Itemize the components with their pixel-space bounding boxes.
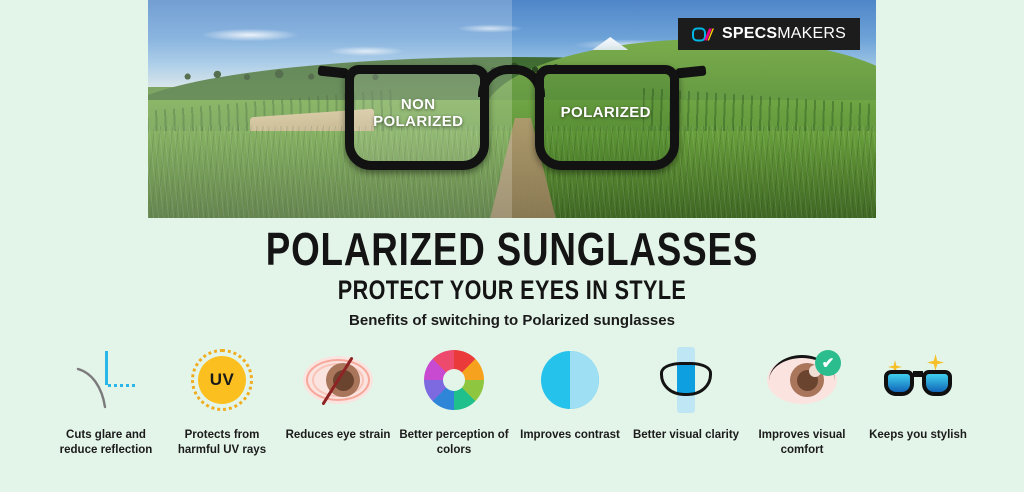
page-subtitle: PROTECT YOUR EYES IN STYLE [102,277,921,304]
glare-reflected-ray [108,384,136,387]
benefit-label: Keeps you stylish [869,428,967,443]
benefit-label: Improves visual comfort [746,428,858,458]
benefit-label: Reduces eye strain [286,428,391,443]
glare-incoming-ray [105,351,108,385]
benefit-item-colors: Better perception of colors [398,344,510,458]
lens-clarity-icon [650,344,722,416]
hero-label-non-polarized-line2: POLARIZED [355,114,482,131]
contrast-light-half [570,351,599,409]
sunglasses-lens-left [884,370,914,396]
clarity-lens-outline [660,362,712,396]
brand-logo-text: SPECSMAKERS [722,25,846,43]
brand-name-secondary: MAKERS [777,25,846,42]
hero-label-non-polarized: NON POLARIZED [355,97,482,131]
specsmakers-lens-icon [692,26,714,43]
poster-root: NON POLARIZED POLARIZED SPECSMAKERS POLA… [0,0,1024,492]
benefits-lead-text: Benefits of switching to Polarized sungl… [0,312,1024,329]
benefits-row: Cuts glare and reduce reflection UV Prot… [50,344,974,458]
contrast-circle-icon [534,344,606,416]
benefit-label: Protects from harmful UV rays [166,428,278,458]
eye-check-icon: ✔ [766,344,838,416]
hero-label-polarized: POLARIZED [539,105,673,122]
eye-strain-blocked-icon [302,344,374,416]
benefit-item-clarity: Better visual clarity [630,344,742,443]
benefit-label: Better perception of colors [398,428,510,458]
sparkle-icon-right [927,354,944,371]
color-wheel-center [443,369,465,391]
benefit-label: Cuts glare and reduce reflection [50,428,162,458]
color-wheel-icon [418,344,490,416]
sunglasses-lens-right [922,370,952,396]
glare-reflection-icon [70,344,142,416]
benefit-item-glare: Cuts glare and reduce reflection [50,344,162,458]
check-badge-icon: ✔ [815,350,841,376]
hero-banner-image: NON POLARIZED POLARIZED SPECSMAKERS [148,0,876,218]
benefit-item-uv: UV Protects from harmful UV rays [166,344,278,458]
page-title: POLARIZED SUNGLASSES [102,226,921,272]
hero-sunglasses-overlay: NON POLARIZED POLARIZED [345,65,680,170]
benefit-item-contrast: Improves contrast [514,344,626,443]
brand-logo[interactable]: SPECSMAKERS [678,18,860,50]
benefit-label: Better visual clarity [633,428,739,443]
hero-label-non-polarized-line1: NON [355,97,482,114]
benefit-item-stylish: Keeps you stylish [862,344,974,443]
brand-name-primary: SPECS [722,25,777,42]
benefit-item-eye-strain: Reduces eye strain [282,344,394,443]
uv-badge: UV [198,356,246,404]
benefit-label: Improves contrast [520,428,620,443]
benefit-item-comfort: ✔ Improves visual comfort [746,344,858,458]
sunglasses-sparkle-icon [882,344,954,416]
uv-shield-icon: UV [186,344,258,416]
